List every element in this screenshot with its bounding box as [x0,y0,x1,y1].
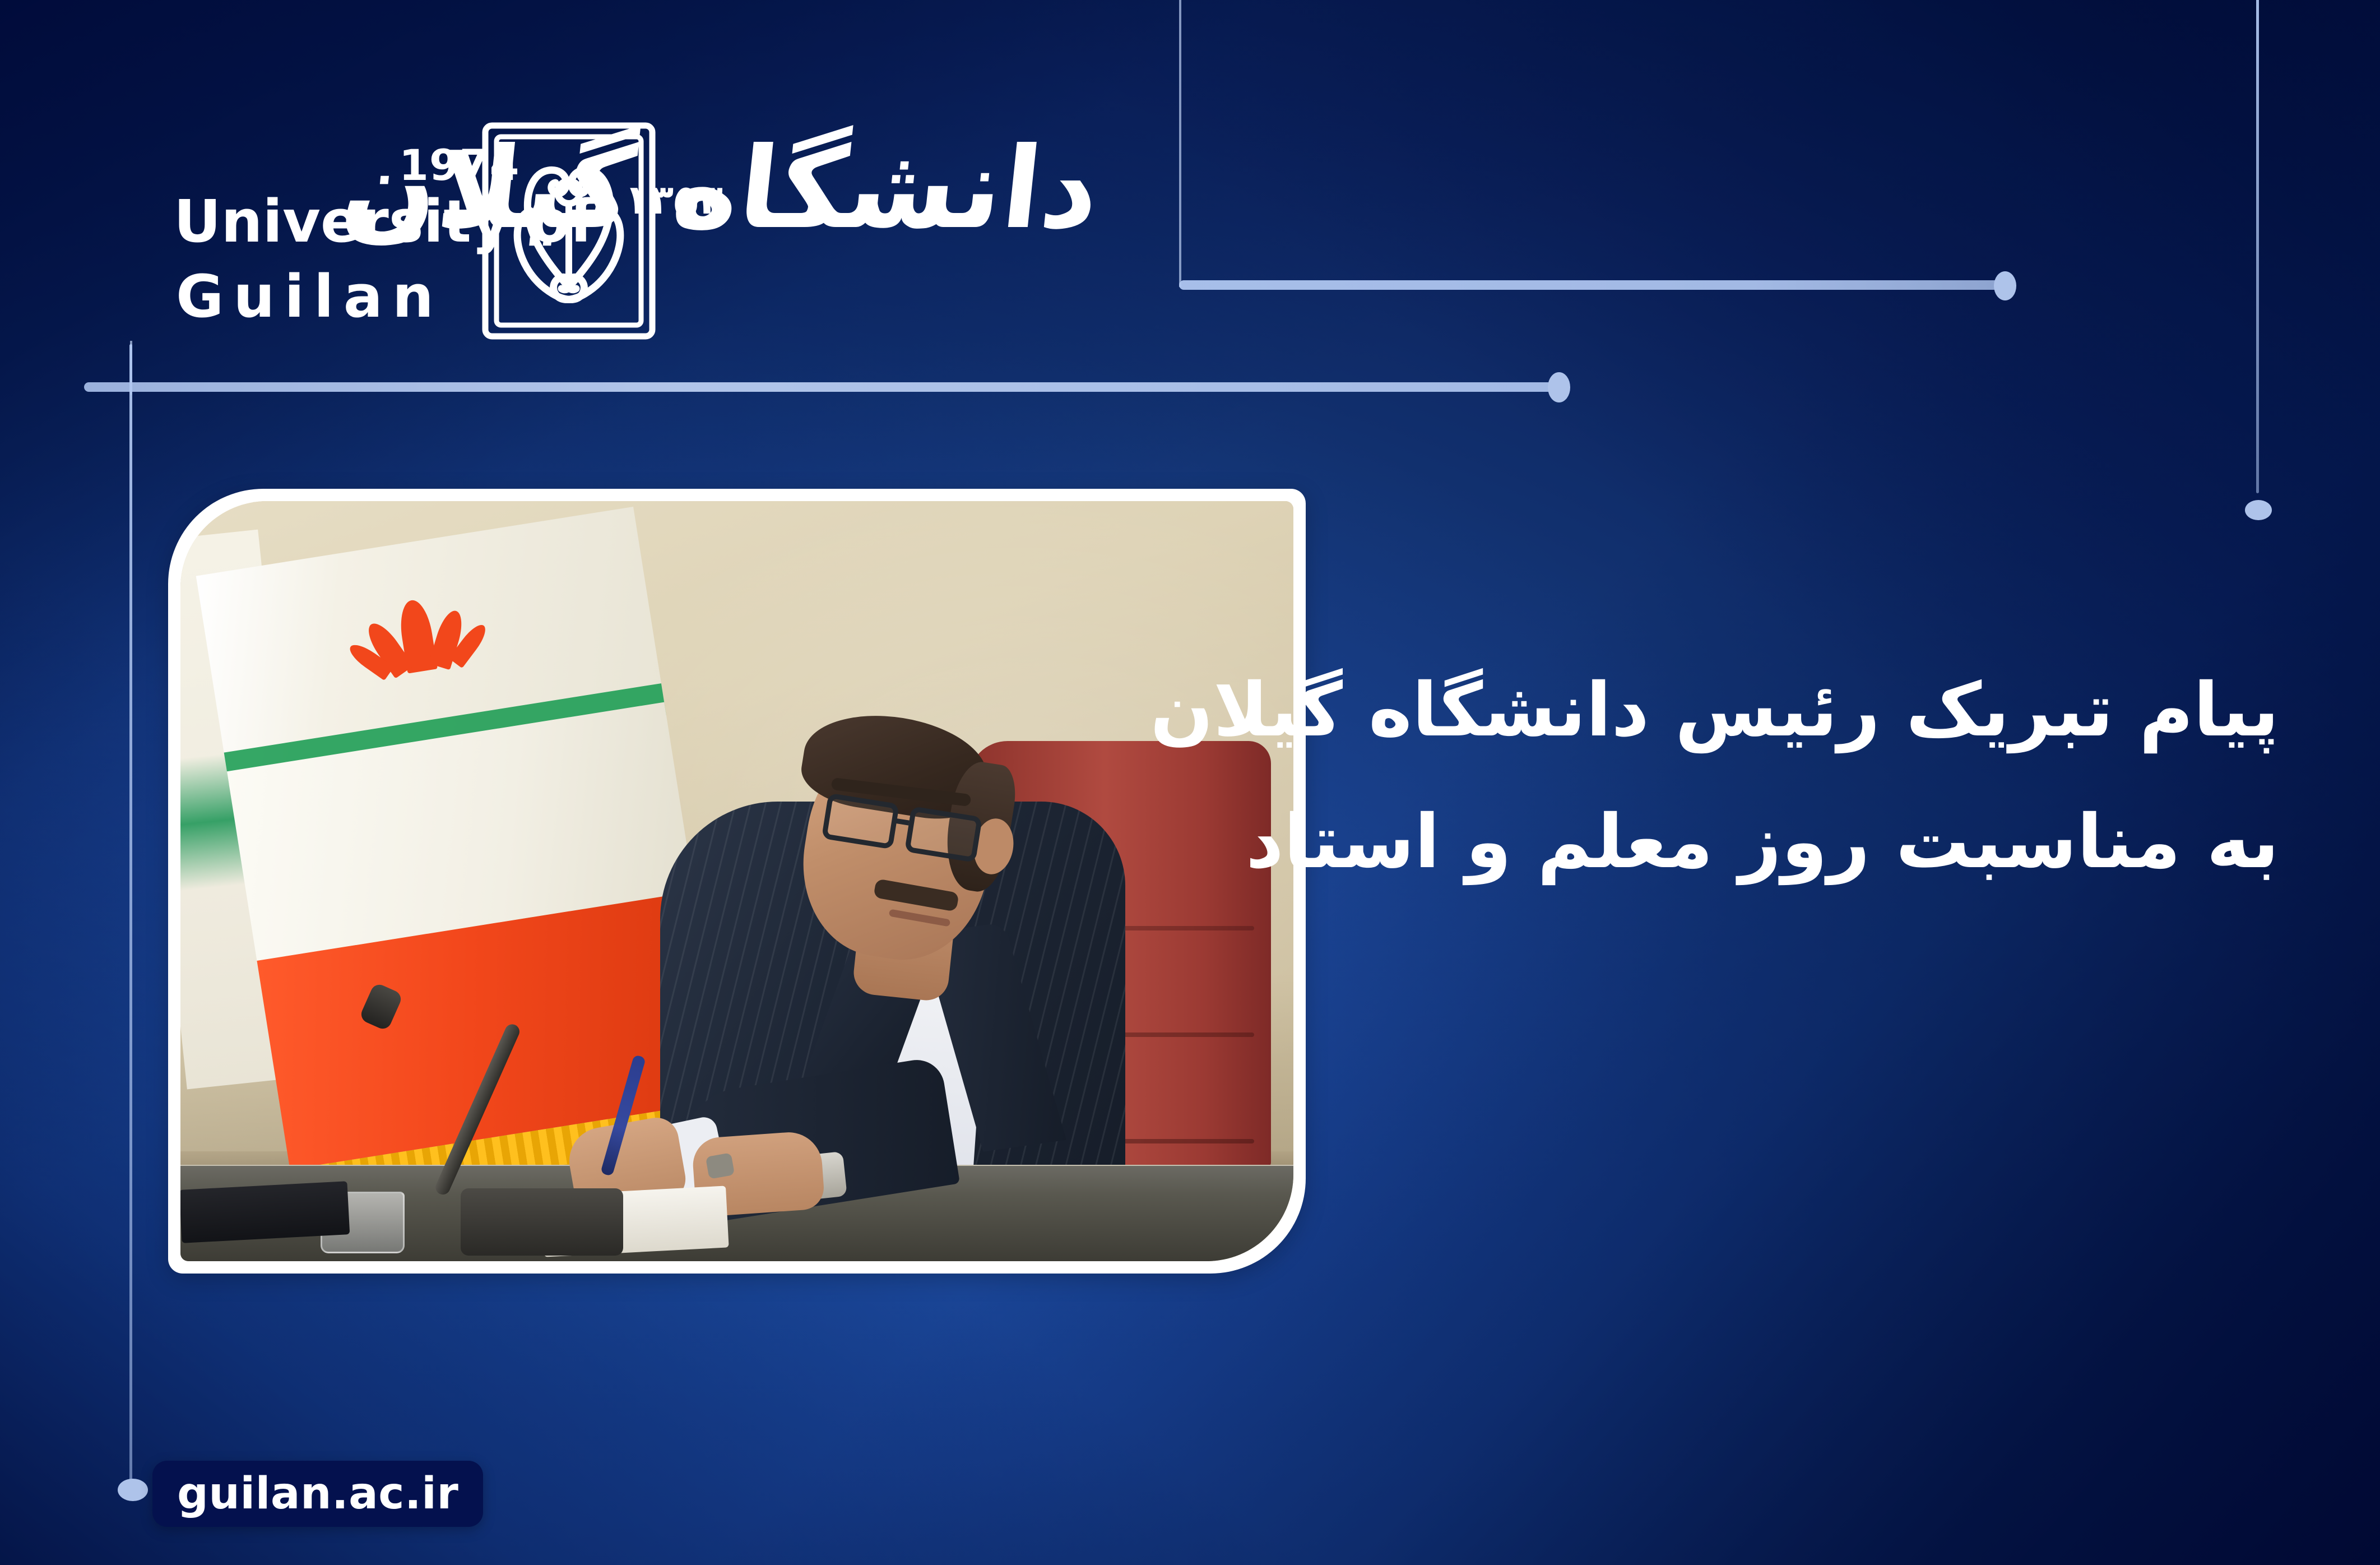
headline-line-1: پیام تبریک رئیس دانشگاه گیلان [1164,645,2279,776]
long-accent-horizontal-rule [84,382,1561,392]
logo-founded-year-persian: ۱۳۵۳ [624,179,723,220]
left-accent-vertical-rule [129,344,132,1488]
right-edge-accent-dot [2245,500,2272,520]
top-right-thin-vertical-rule [1179,0,1181,287]
top-right-accent-horizontal-rule [1179,280,2003,290]
photo-card [168,489,1306,1274]
headline: پیام تبریک رئیس دانشگاه گیلان به مناسبت … [1164,645,2279,908]
headline-line-2: به مناسبت روز معلم و استاد [1164,776,2279,908]
left-accent-bottom-dot [118,1479,148,1501]
flag-emblem-icon [363,592,475,691]
university-logo: 1974 University of Guilan دانشگاه گیلان … [168,119,1132,343]
right-edge-accent-vertical-rule [2256,0,2259,493]
banner-canvas: 1974 University of Guilan دانشگاه گیلان … [0,0,2380,1565]
photo-image [180,501,1293,1261]
website-url-text: guilan.ac.ir [177,1472,458,1516]
photo-folder [180,1181,350,1243]
logo-guilan-word: Guilan [176,267,443,326]
top-right-accent-dot [1994,271,2016,300]
website-url-badge[interactable]: guilan.ac.ir [152,1461,483,1527]
microphone-base [461,1188,623,1256]
logo-persian-block: دانشگاه گیلان ۱۳۵۳ [661,119,1093,343]
ring-icon [706,1152,735,1179]
long-rule-end-dot [1548,372,1570,402]
